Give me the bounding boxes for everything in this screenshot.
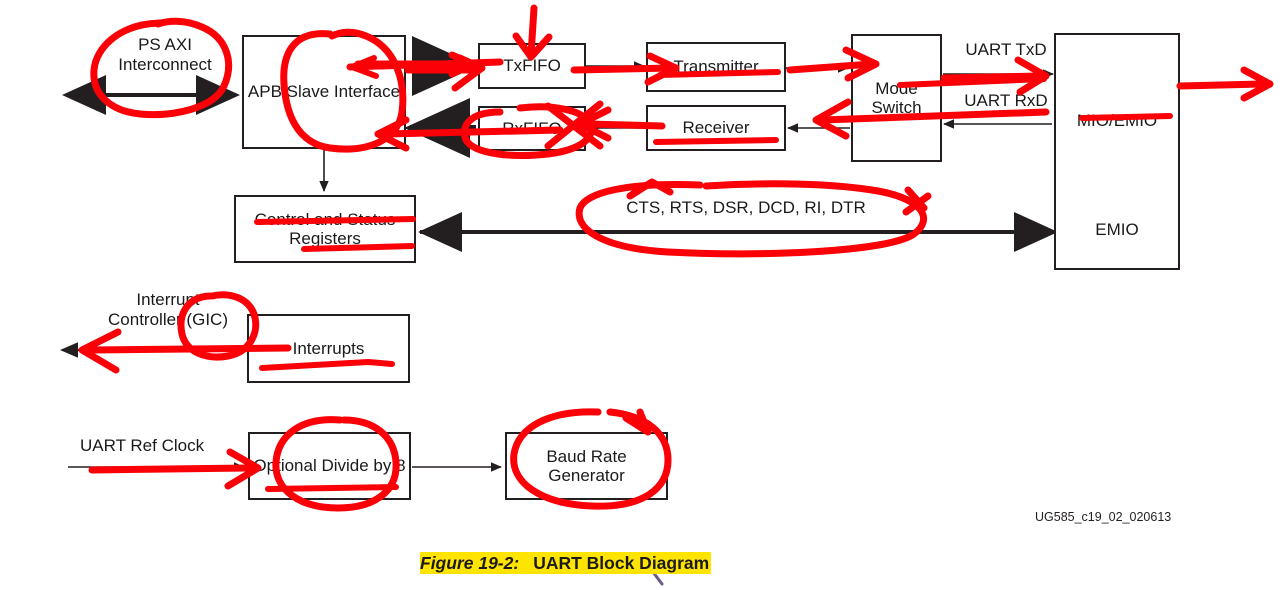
block-rxfifo[interactable]: RxFIFO: [478, 106, 586, 151]
block-baud-rate-generator[interactable]: Baud Rate Generator: [505, 432, 668, 500]
document-id: UG585_c19_02_020613: [1035, 510, 1171, 524]
label-ps-axi-interconnect: PS AXI Interconnect: [95, 35, 235, 74]
block-receiver[interactable]: Receiver: [646, 105, 786, 151]
label-uart-txd: UART TxD: [951, 40, 1061, 60]
label-uart-ref-clock: UART Ref Clock: [80, 436, 260, 456]
block-transmitter[interactable]: Transmitter: [646, 42, 786, 92]
block-apb-slave-interface[interactable]: APB Slave Interface: [242, 35, 406, 149]
block-mio-emio[interactable]: MIO/EMIO EMIO: [1054, 33, 1180, 270]
uart-block-diagram: APB Slave Interface TxFIFO RxFIFO Transm…: [0, 0, 1285, 590]
block-control-status-registers[interactable]: Control and Status Registers: [234, 195, 416, 263]
label-modem-signals: CTS, RTS, DSR, DCD, RI, DTR: [585, 198, 907, 218]
label-uart-rxd: UART RxD: [951, 91, 1061, 111]
label-interrupt-controller-gic: Interrupt Controller (GIC): [83, 290, 253, 329]
block-optional-divide-by-8[interactable]: Optional Divide by 8: [248, 432, 411, 500]
block-interrupts[interactable]: Interrupts: [247, 314, 410, 383]
figure-number: Figure 19-2:: [420, 552, 519, 574]
block-emio-label: EMIO: [1056, 220, 1178, 239]
block-txfifo[interactable]: TxFIFO: [478, 43, 586, 89]
figure-caption: Figure 19-2:UART Block Diagram: [420, 553, 711, 574]
figure-title: UART Block Diagram: [519, 552, 711, 574]
block-mio-emio-label: MIO/EMIO: [1056, 111, 1178, 130]
block-mode-switch[interactable]: Mode Switch: [851, 34, 942, 162]
